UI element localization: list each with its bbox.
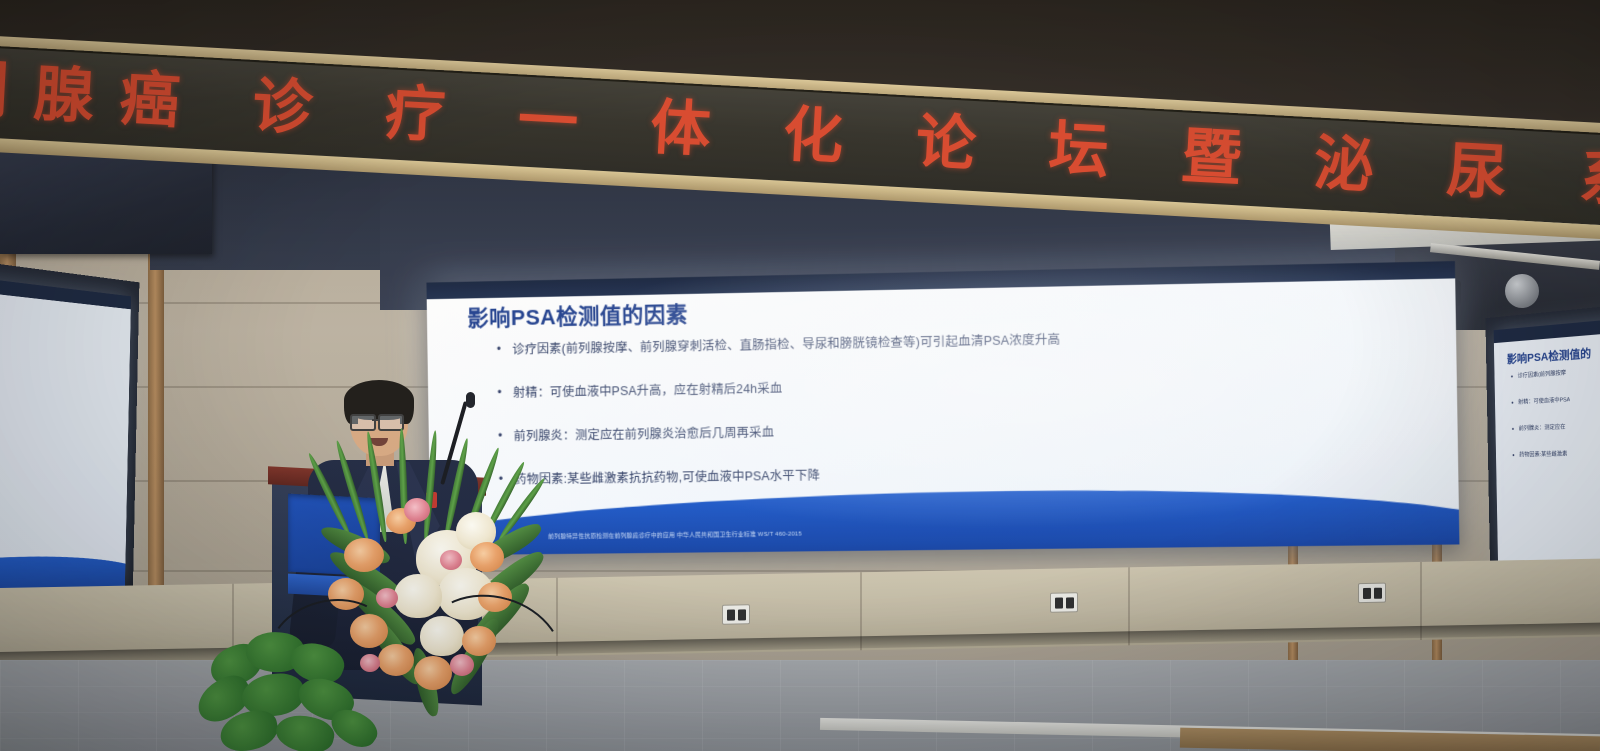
slide-footer: 前列腺特异性抗原检测在前列腺癌诊疗中的应用 中华人民共和国卫生行业标准 WS/T… bbox=[430, 481, 1460, 555]
list-item: • 射精：可使血液中PSA升高，应在射精后24h采血 bbox=[497, 370, 1425, 401]
slide-title: 影响PSA检测值的因素 bbox=[467, 297, 688, 333]
bullet-dot-icon: • bbox=[1512, 452, 1514, 461]
right-slide-bullets: • 诊疗因素(前列腺按摩 • 射精：可使血液中PSA • 前列腺炎：测定应在 •… bbox=[1511, 359, 1600, 478]
left-slide-bullets: 和膀胱镜检查等)可引起血清PSA浓度升高 bbox=[0, 344, 126, 392]
right-projection-screen: 影响PSA检测值的 • 诊疗因素(前列腺按摩 • 射精：可使血液中PSA • 前… bbox=[1494, 309, 1600, 590]
bullet-dot-icon: • bbox=[1511, 399, 1513, 408]
bullet-dot-icon: • bbox=[497, 385, 513, 400]
power-outlet-icon bbox=[1050, 592, 1078, 613]
list-item: • 前列腺炎：测定应在 bbox=[1512, 417, 1600, 434]
main-projection-screen: 影响PSA检测值的因素 • 诊疗因素(前列腺按摩、前列腺穿刺活检、直肠指检、导尿… bbox=[426, 261, 1459, 555]
list-item: • 前列腺炎：测定应在前列腺炎治愈后几周再采血 bbox=[498, 414, 1426, 444]
list-item: • 射精：可使血液中PSA bbox=[1511, 388, 1600, 408]
glasses-icon bbox=[350, 414, 376, 431]
list-item: 和膀胱镜检查等)可引起血清PSA浓度升高 bbox=[0, 344, 126, 375]
power-outlet-icon bbox=[722, 604, 750, 625]
power-outlet-icon bbox=[1358, 583, 1386, 604]
bullet-dot-icon: • bbox=[1512, 425, 1514, 434]
microphone-head-icon bbox=[466, 392, 475, 408]
left-projection-screen: 和膀胱镜检查等)可引起血清PSA浓度升高 bbox=[0, 259, 131, 607]
right-slide-title: 影响PSA检测值的 bbox=[1507, 344, 1592, 367]
bullet-dot-icon: • bbox=[1511, 373, 1513, 382]
stage-light-icon bbox=[1505, 274, 1539, 308]
slide-footer-curve bbox=[430, 485, 1460, 556]
bullet-text: 射精：可使血液中PSA升高，应在射精后24h采血 bbox=[513, 381, 783, 401]
list-item: • 药物因素:某些雌激素 bbox=[1512, 446, 1600, 460]
bullet-dot-icon: • bbox=[497, 342, 513, 357]
conference-hall-photo: 列腺癌 诊 疗 一 体 化 论 坛 暨 泌 尿 系 疾 病 延 续 护 和膀胱镜… bbox=[0, 0, 1600, 751]
glasses-bridge bbox=[372, 419, 379, 421]
